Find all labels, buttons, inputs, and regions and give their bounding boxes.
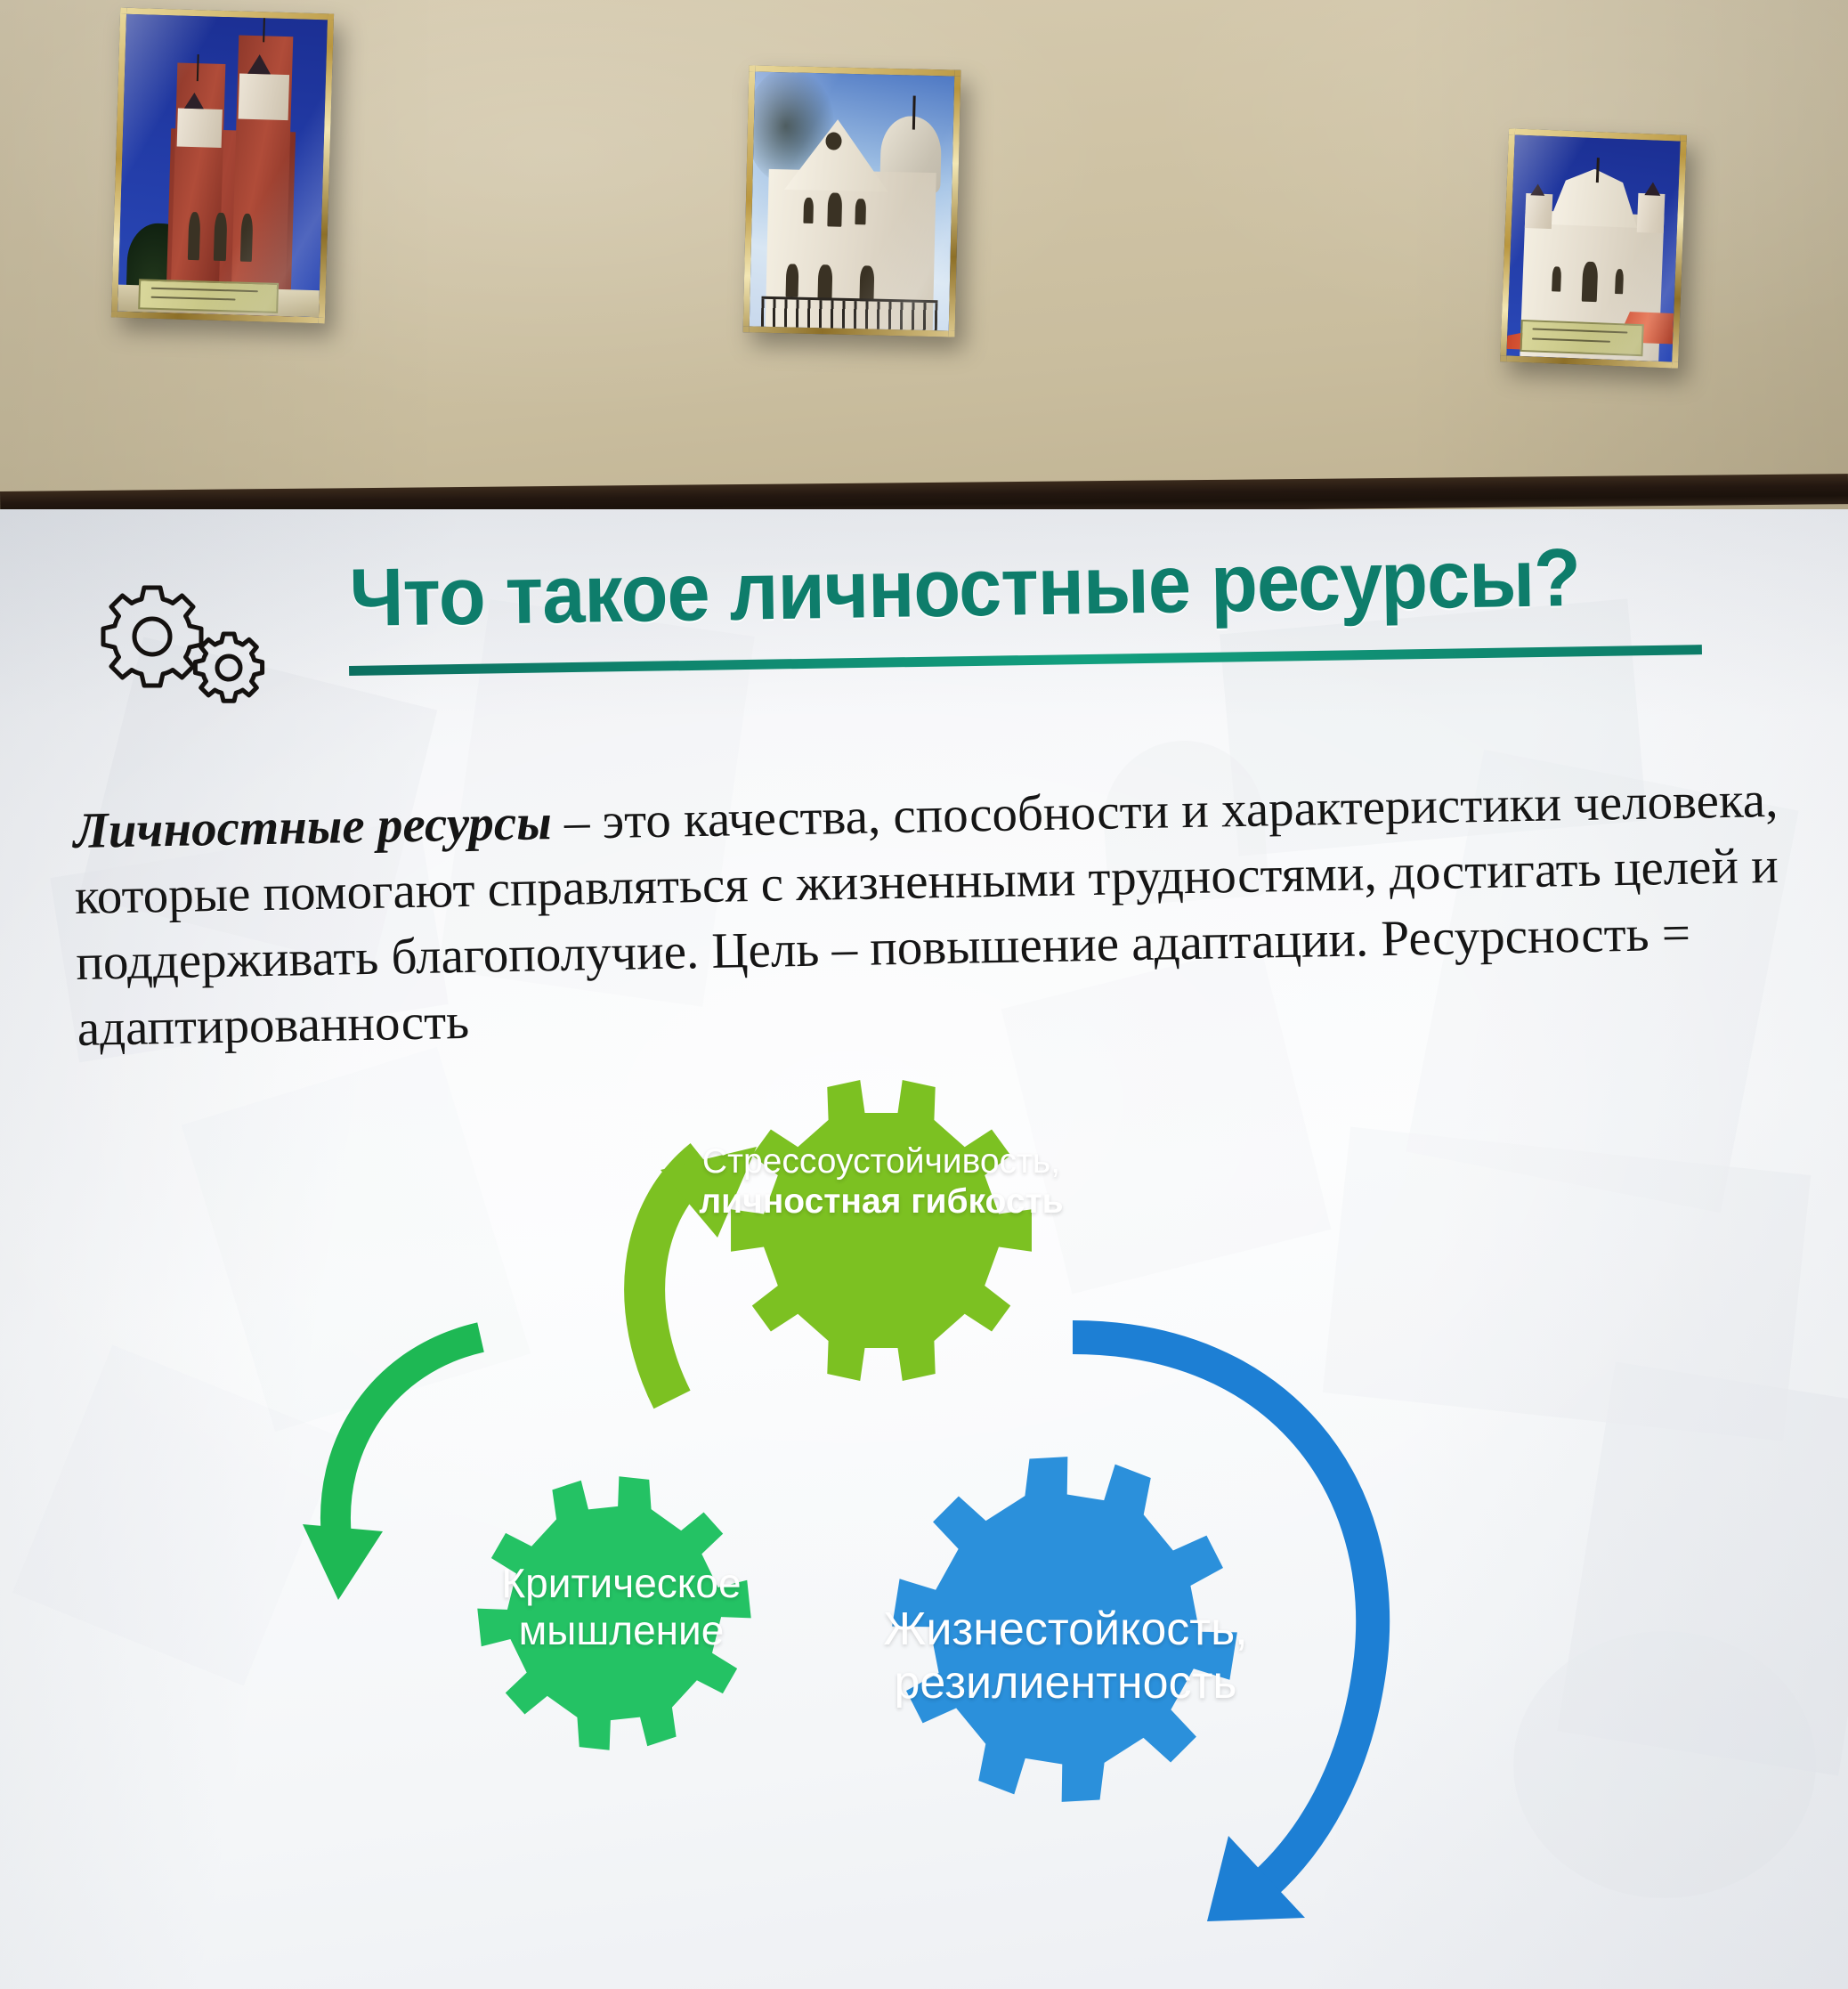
gear-hardiness: [869, 1433, 1260, 1824]
arrow-green-down-left: [303, 1337, 481, 1600]
framed-photo-white-baroque-church: [743, 65, 961, 337]
arrow-lime-up-right: [644, 1147, 757, 1400]
gear-diagram: Стрессоустойчивость, личностная гибкость…: [0, 509, 1848, 1989]
framed-photo-red-brick-church: [111, 8, 334, 324]
gear-stress-resilience: [731, 1080, 1032, 1381]
projection-screen: Что такое личностные ресурсы? Личностные…: [0, 509, 1848, 1989]
gear-critical-thinking: [466, 1465, 764, 1763]
framed-photo-white-church-red-roof: [1500, 128, 1687, 368]
photo-scene: Что такое личностные ресурсы? Личностные…: [0, 0, 1848, 1989]
